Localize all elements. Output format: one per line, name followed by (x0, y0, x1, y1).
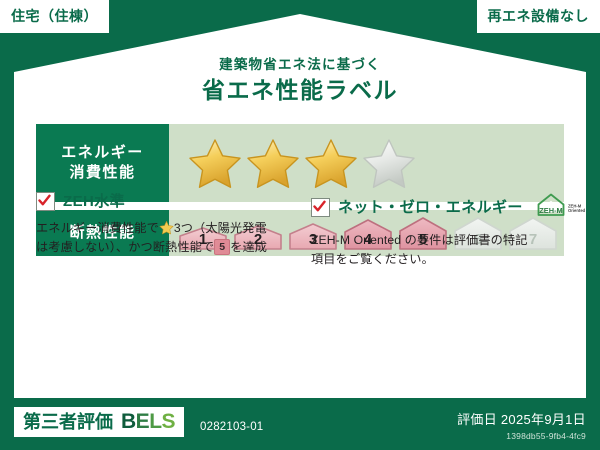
label-title-block: 建築物省エネ法に基づく 省エネ性能ラベル (14, 58, 586, 102)
evaluation-hash: 1398db55-9fb4-4fc9 (506, 432, 586, 441)
energy-performance-label-block: エネルギー 消費性能 (36, 124, 169, 202)
bels-letter-e: E (136, 410, 150, 433)
energy-performance-row: エネルギー 消費性能 (36, 124, 564, 202)
energy-label-line1: エネルギー (61, 143, 144, 163)
bels-certificate-number: 0282103-01 (200, 422, 263, 434)
third-party-evaluation-text: 第三者評価 (23, 413, 113, 431)
star-filled-icon (245, 136, 301, 190)
star-empty-icon (361, 136, 417, 190)
star-filled-icon (187, 136, 243, 190)
zeh-m-oriented-logo: ZEH-M ZEH-M Oriented (535, 192, 587, 223)
zeh-line2-after-badge: を達成 (230, 240, 267, 254)
zeh-title: ZEH水準 (63, 194, 125, 209)
star-filled-icon (303, 136, 359, 190)
svg-text:ZEH-M: ZEH-M (539, 206, 562, 215)
energy-label-line2: 消費性能 (69, 163, 135, 183)
evaluation-date: 評価日 2025年9月1日 (457, 413, 586, 426)
zeh-criterion: ZEH水準 エネルギー消費性能で 3つ（太陽光発電 は考慮しない）、かつ断熱性能… (36, 192, 289, 270)
label-card: 建築物省エネ法に基づく 省エネ性能ラベル エネルギー 消費性能 (14, 14, 586, 398)
energy-star-rating (169, 124, 564, 202)
zeh-text-after-star: 3つ（太陽光発電 (174, 221, 267, 235)
zeh-text-before-star: エネルギー消費性能で (36, 221, 159, 235)
bels-logo: 第三者評価 BELS (14, 407, 184, 437)
building-type-badge: 住宅（住棟） (0, 0, 109, 33)
star-inline-icon (159, 220, 174, 235)
zeh-description: エネルギー消費性能で 3つ（太陽光発電 は考慮しない）、かつ断熱性能で5を達成 (36, 219, 289, 258)
nzeb-description: ZEH-M Oriented の要件は評価書の特記 項目をご覧ください。 (311, 231, 564, 270)
bels-letter-s: S (162, 410, 176, 433)
title-subtitle: 建築物省エネ法に基づく (14, 58, 586, 72)
check-icon (313, 200, 326, 213)
renewable-energy-badge: 再エネ設備なし (477, 0, 600, 33)
label-footer: 第三者評価 BELS 0282103-01 評価日 2025年9月1日 1398… (0, 398, 600, 450)
bels-wordmark: BELS (121, 411, 175, 432)
energy-performance-label: 住宅（住棟） 再エネ設備なし 建築物省エネ法に基づく 省エネ性能ラベル エネルギ… (0, 0, 600, 450)
page-title: 省エネ性能ラベル (14, 79, 586, 102)
svg-text:Oriented: Oriented (568, 208, 586, 213)
nzeb-line2: 項目をご覧ください。 (311, 252, 434, 266)
nzeb-criterion: ネット・ゼロ・エネルギー ZEH-M ZEH-M Oriented (311, 192, 564, 270)
nzeb-checkbox[interactable] (311, 198, 330, 217)
nzeb-line1: ZEH-M Oriented の要件は評価書の特記 (311, 233, 527, 247)
zeh-checkbox[interactable] (36, 192, 55, 211)
bels-letter-b: B (121, 410, 136, 433)
criteria-section: ZEH水準 エネルギー消費性能で 3つ（太陽光発電 は考慮しない）、かつ断熱性能… (36, 192, 564, 270)
check-icon (38, 194, 51, 207)
bels-letter-l: L (149, 410, 161, 433)
zeh-insulation-badge: 5 (214, 239, 230, 255)
nzeb-title: ネット・ゼロ・エネルギー (338, 200, 523, 215)
zeh-line2-before-badge: は考慮しない）、かつ断熱性能で (36, 240, 214, 254)
